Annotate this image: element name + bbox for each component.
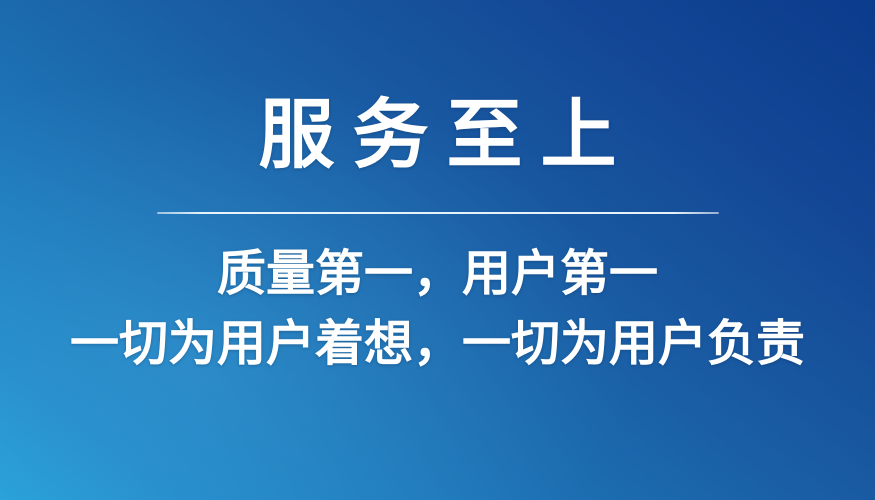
page-title: 服务至上 — [241, 98, 635, 174]
slogan-content: 服务至上 质量第一，用户第一 一切为用户着想，一切为用户负责 — [0, 0, 875, 500]
subtitle-line-2: 一切为用户着想，一切为用户负责 — [70, 310, 805, 380]
horizontal-rule-divider-icon — [157, 212, 719, 214]
subtitle-group: 质量第一，用户第一 一切为用户着想，一切为用户负责 — [70, 240, 805, 379]
subtitle-line-1: 质量第一，用户第一 — [217, 240, 658, 310]
slogan-banner: 服务至上 质量第一，用户第一 一切为用户着想，一切为用户负责 — [0, 0, 875, 500]
